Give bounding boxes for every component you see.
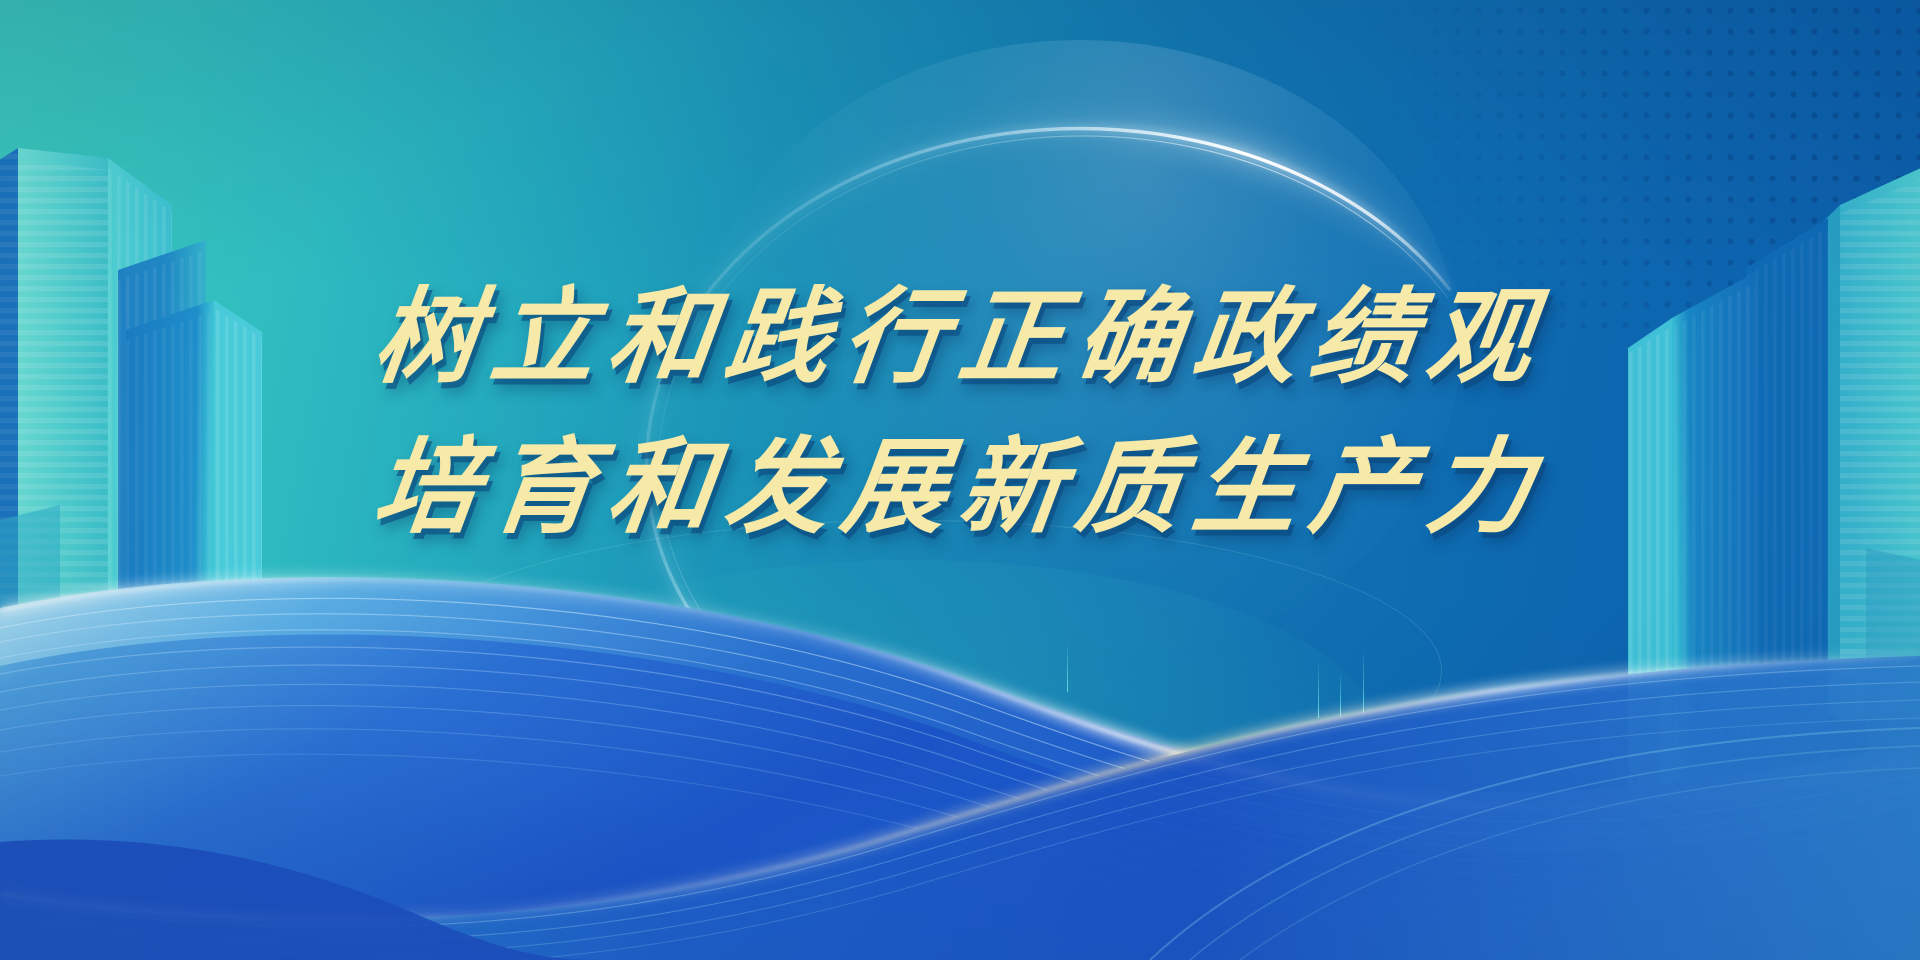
flowing-wave-ribbon	[0, 490, 1920, 960]
banner-canvas: 树立和践行正确政绩观 培育和发展新质生产力	[0, 0, 1920, 960]
